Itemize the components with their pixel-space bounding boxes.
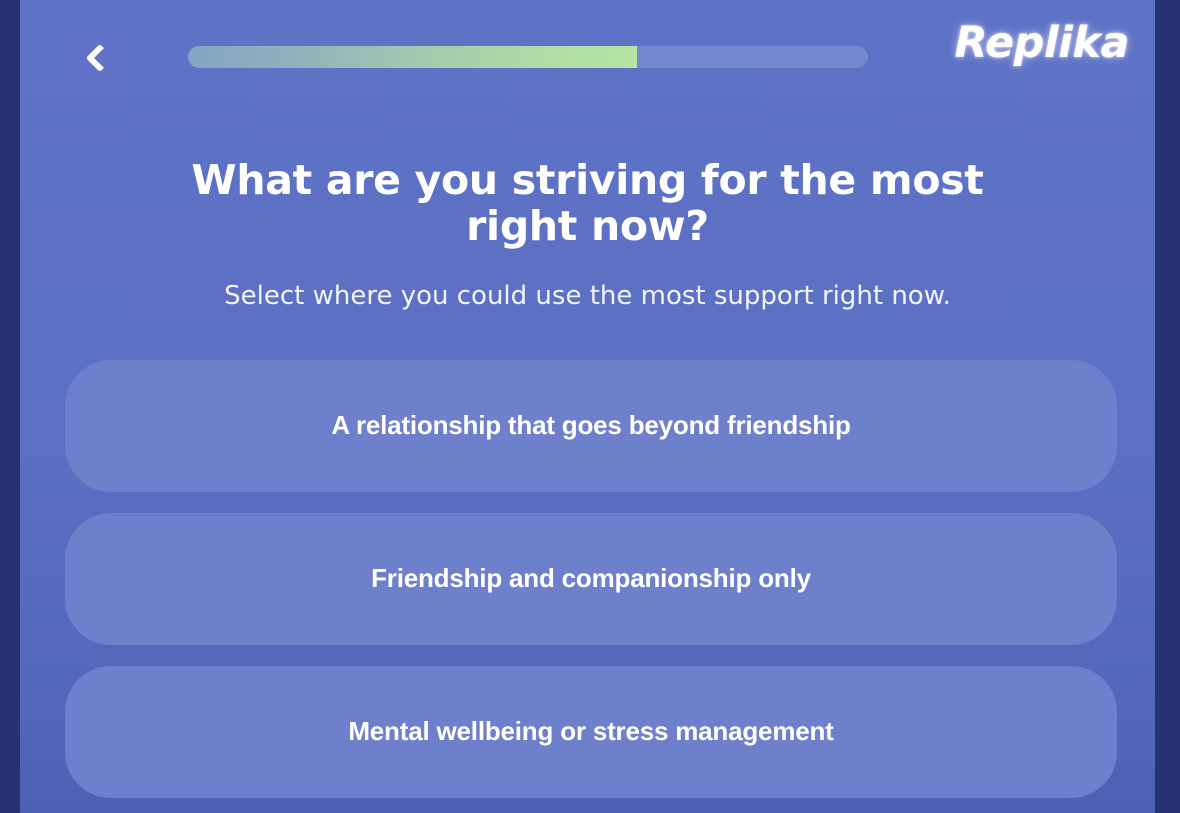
option-label: A relationship that goes beyond friendsh… [331,410,850,441]
option-card-2[interactable]: Friendship and companionship only [65,513,1117,645]
page-subtitle: Select where you could use the most supp… [20,280,1155,313]
page-title: What are you striving for the most right… [20,158,1155,250]
chevron-left-icon [86,44,114,72]
progress-fill [188,46,637,68]
option-label: Friendship and companionship only [371,563,811,594]
option-list: A relationship that goes beyond friendsh… [65,360,1117,798]
onboarding-header: Replika [20,0,1155,116]
app-viewport: Replika What are you striving for the mo… [20,0,1155,813]
option-card-1[interactable]: A relationship that goes beyond friendsh… [65,360,1117,492]
back-button[interactable] [64,25,130,91]
screen-frame: Replika What are you striving for the mo… [0,0,1180,813]
option-card-3[interactable]: Mental wellbeing or stress management [65,666,1117,798]
option-label: Mental wellbeing or stress management [348,716,833,747]
onboarding-progress-bar [188,46,868,68]
replika-logo: Replika [954,18,1129,68]
